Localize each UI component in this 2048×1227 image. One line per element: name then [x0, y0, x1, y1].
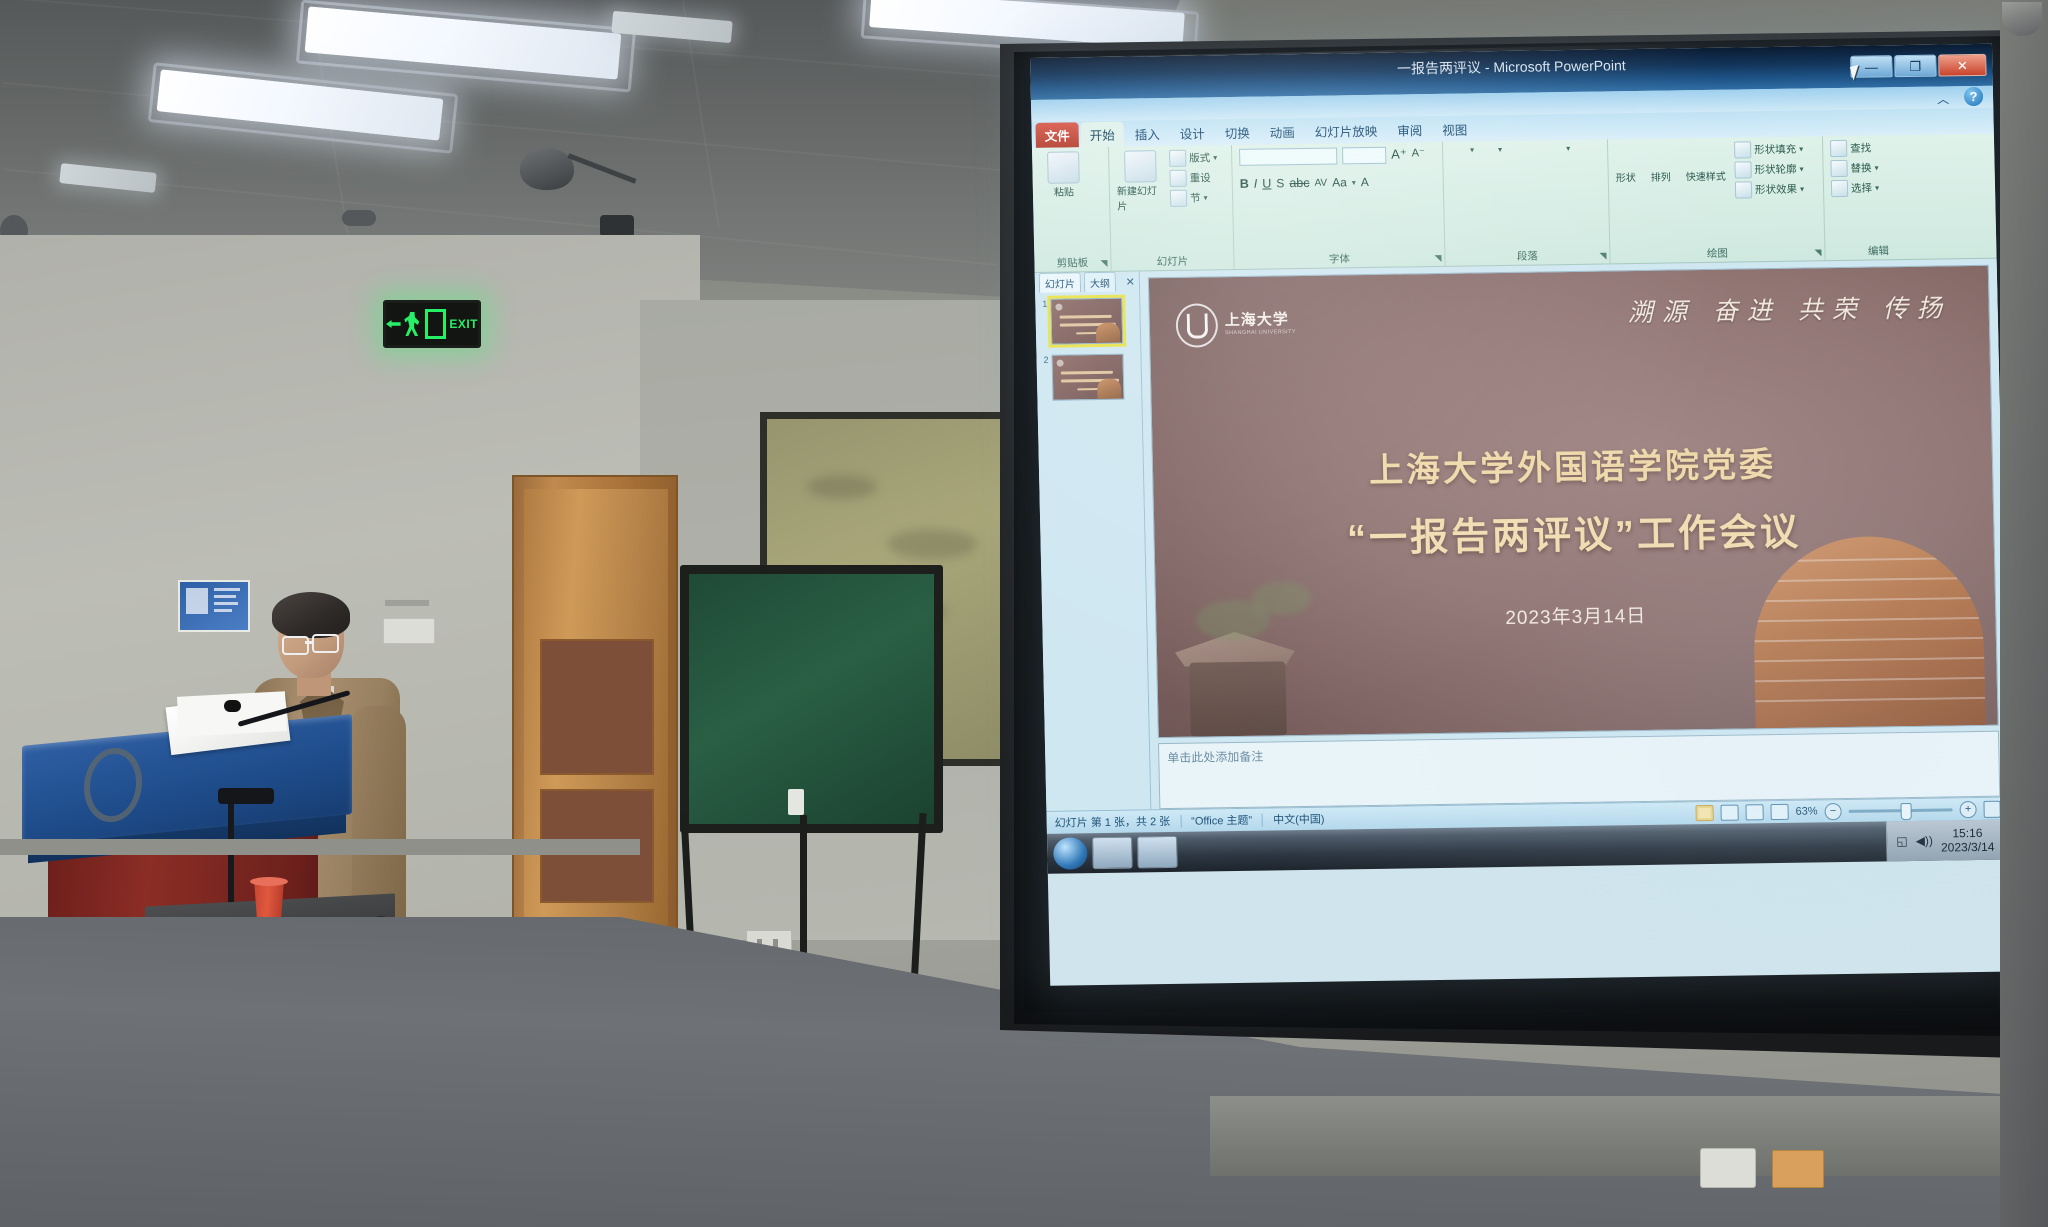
- find-label: 查找: [1850, 141, 1871, 156]
- start-button[interactable]: [1053, 837, 1088, 869]
- group-label-slides: 幻灯片: [1111, 253, 1233, 270]
- drawing-dialog-launcher[interactable]: ◥: [1814, 247, 1821, 258]
- shape-fill-icon: [1734, 141, 1751, 158]
- slide-building-illustration: [1752, 535, 1986, 728]
- view-slide-sorter-button[interactable]: [1720, 805, 1738, 821]
- tab-file[interactable]: 文件: [1035, 122, 1079, 148]
- align-left-icon[interactable]: [1450, 165, 1466, 180]
- volume-icon[interactable]: ◀)): [1916, 834, 1934, 848]
- italic-button[interactable]: I: [1254, 177, 1258, 191]
- microphone-head: [224, 700, 241, 712]
- zoom-in-button[interactable]: +: [1959, 801, 1976, 818]
- powerpoint-window[interactable]: 一报告两评议 - Microsoft PowerPoint — ❐ ✕ ︿ ? …: [1030, 44, 2012, 986]
- chevron-down-icon: ▾: [1213, 153, 1217, 162]
- slide-heading-line-1: 上海大学外国语学院党委: [1152, 434, 1992, 495]
- arrange-icon[interactable]: [1650, 142, 1681, 166]
- system-tray: ◱ ◀)) 15:16 2023/3/14: [1886, 820, 2004, 862]
- shapes-gallery-icon[interactable]: [1615, 143, 1646, 167]
- slide-counter: 幻灯片 第 1 张，共 2 张: [1055, 813, 1171, 831]
- zoom-percent-label: 63%: [1795, 805, 1817, 817]
- select-label: 选择: [1851, 181, 1872, 196]
- window-title-text: 一报告两评议 - Microsoft PowerPoint: [1397, 55, 1626, 78]
- slide-thumbnail-1[interactable]: [1050, 298, 1123, 345]
- zoom-slider[interactable]: [1849, 808, 1953, 813]
- layout-label: 版式: [1189, 150, 1210, 165]
- chevron-down-icon: ▾: [1799, 145, 1803, 154]
- convert-smartart-icon[interactable]: [1451, 184, 1467, 199]
- exit-arrow-icon: [386, 320, 401, 328]
- clock-date: 2023/3/14: [1941, 840, 1995, 855]
- help-icon[interactable]: ?: [1964, 87, 1983, 106]
- running-man-icon: [404, 312, 422, 336]
- wall-right: [2000, 0, 2048, 1227]
- new-slide-icon: [1124, 150, 1157, 182]
- shape-fill-label: 形状填充: [1754, 142, 1796, 158]
- replace-button[interactable]: 替换 ▾: [1830, 159, 1922, 177]
- clipboard-dialog-launcher[interactable]: ◥: [1100, 258, 1107, 269]
- light-switch[interactable]: [383, 618, 435, 644]
- ribbon-group-font: A⁺ A⁻ B I U S abc AV Aa ▾ A 字体 ◥: [1232, 142, 1446, 269]
- wall-below-screen: [1210, 1096, 2048, 1176]
- close-button[interactable]: ✕: [1938, 54, 1986, 77]
- thumbnail-item[interactable]: 2: [1040, 353, 1137, 400]
- language-indicator[interactable]: 中文(中国): [1273, 811, 1325, 828]
- thumbnail-number: 1: [1039, 299, 1047, 309]
- eyeglasses-bridge: [305, 641, 314, 644]
- font-size-combobox[interactable]: [1342, 147, 1386, 165]
- section-label: 节: [1190, 190, 1201, 205]
- increase-font-size-icon[interactable]: A⁺: [1391, 146, 1407, 167]
- section-icon: [1170, 190, 1187, 207]
- person-hair: [272, 592, 350, 638]
- ribbon-group-clipboard: 粘贴 剪贴板 ◥: [1032, 147, 1112, 272]
- tab-slideshow[interactable]: 幻灯片放映: [1305, 118, 1386, 144]
- floor-mic-head: [218, 788, 274, 804]
- university-logo: 上海大学 SHANGHAI UNIVERSITY: [1175, 302, 1296, 348]
- exit-sign-label: EXIT: [449, 317, 478, 331]
- find-button[interactable]: 查找: [1830, 139, 1922, 157]
- eyeglasses-right: [312, 634, 339, 653]
- strikethrough-button[interactable]: abc: [1289, 176, 1309, 190]
- shadow-button[interactable]: S: [1276, 176, 1284, 190]
- shape-outline-label: 形状轮廓: [1754, 162, 1796, 178]
- network-icon[interactable]: ◱: [1896, 834, 1908, 848]
- decrease-font-size-icon[interactable]: A⁻: [1412, 146, 1426, 167]
- shape-fill-button[interactable]: 形状填充 ▾: [1734, 141, 1803, 159]
- wall-socket: [1700, 1148, 1756, 1188]
- character-spacing-button[interactable]: AV: [1314, 177, 1327, 188]
- find-icon: [1830, 140, 1847, 157]
- baseboard: [0, 839, 640, 855]
- theme-name[interactable]: “Office 主题”: [1191, 812, 1252, 829]
- tab-home[interactable]: 开始: [1080, 122, 1124, 148]
- tab-slides[interactable]: 幻灯片: [1039, 272, 1081, 293]
- taskbar-item-explorer[interactable]: [1092, 837, 1133, 870]
- ceiling-sensor: [342, 210, 376, 226]
- wall-socket-orange: [1772, 1150, 1824, 1188]
- replace-label: 替换: [1850, 161, 1871, 176]
- close-pane-icon[interactable]: ✕: [1126, 275, 1136, 288]
- align-text-icon[interactable]: [1570, 163, 1586, 178]
- group-label-paragraph: 段落: [1445, 247, 1609, 264]
- group-label-font: 字体: [1234, 250, 1444, 268]
- reset-label: 重设: [1189, 170, 1210, 185]
- new-slide-label: 新建幻灯片: [1117, 182, 1166, 213]
- new-slide-button[interactable]: 新建幻灯片: [1116, 150, 1165, 213]
- shape-outline-icon: [1734, 161, 1751, 178]
- view-reading-button[interactable]: [1745, 804, 1763, 820]
- slide-thumbnail-2[interactable]: [1051, 354, 1124, 401]
- shape-effects-icon: [1735, 181, 1752, 198]
- ribbon-group-drawing: 形状 排列 快速样式 形状填充 ▾: [1608, 136, 1826, 263]
- slide-thumbnail-pane[interactable]: 幻灯片 大纲 ✕ 1 2: [1035, 271, 1152, 810]
- change-case-button[interactable]: Aa: [1332, 175, 1347, 189]
- line-spacing-icon[interactable]: [1546, 144, 1562, 159]
- section-button[interactable]: 节 ▾: [1170, 189, 1218, 207]
- increase-indent-icon[interactable]: [1526, 144, 1542, 159]
- tab-review[interactable]: 审阅: [1388, 117, 1432, 143]
- ribbon-body: 粘贴 剪贴板 ◥ 新建幻灯片: [1032, 134, 1997, 273]
- arrange-label: 排列: [1651, 168, 1681, 183]
- wall-camera: [600, 215, 634, 237]
- bullets-icon[interactable]: [1450, 146, 1466, 161]
- tab-animations[interactable]: 动画: [1260, 119, 1304, 145]
- paste-icon: [1047, 151, 1080, 183]
- group-label-clipboard: 剪贴板: [1034, 255, 1110, 271]
- ribbon-group-slides: 新建幻灯片 版式 ▾ 重设: [1109, 145, 1235, 271]
- screenshot-root: EXIT: [0, 0, 2048, 1227]
- shape-outline-button[interactable]: 形状轮廓 ▾: [1734, 161, 1803, 179]
- chevron-down-icon: ▾: [1875, 183, 1879, 192]
- workspace: 幻灯片 大纲 ✕ 1 2: [1035, 259, 2009, 811]
- tab-outline[interactable]: 大纲: [1084, 272, 1116, 292]
- tab-design[interactable]: 设计: [1170, 120, 1214, 146]
- exit-sign: EXIT: [383, 300, 481, 348]
- chevron-down-icon: ▾: [1203, 193, 1207, 202]
- text-direction-icon[interactable]: [1550, 163, 1566, 178]
- layout-button[interactable]: 版式 ▾: [1169, 149, 1217, 167]
- slide-edit-area: 上海大学 SHANGHAI UNIVERSITY 溯源 奋进 共荣 传扬: [1140, 259, 2009, 810]
- reset-button[interactable]: 重设: [1169, 169, 1217, 187]
- font-family-combobox[interactable]: [1239, 147, 1337, 165]
- group-label-drawing: 绘图: [1610, 244, 1824, 262]
- chalkboard-eraser: [788, 789, 804, 815]
- bold-button[interactable]: B: [1240, 177, 1249, 191]
- replace-icon: [1830, 160, 1847, 177]
- layout-icon: [1169, 150, 1186, 167]
- quick-styles-label: 快速样式: [1686, 168, 1726, 184]
- tab-insert[interactable]: 插入: [1125, 121, 1169, 147]
- view-normal-button[interactable]: [1695, 805, 1713, 821]
- group-label-editing: 编辑: [1825, 243, 1931, 260]
- taskbar-clock[interactable]: 15:16 2023/3/14: [1941, 825, 1995, 855]
- collapse-ribbon-icon[interactable]: ︿: [1937, 90, 1949, 107]
- tab-transitions[interactable]: 切换: [1215, 120, 1259, 146]
- exit-door-icon: [425, 309, 447, 339]
- wall-poster: [178, 580, 250, 632]
- logo-chinese-name: 上海大学: [1225, 312, 1296, 328]
- chevron-down-icon: ▾: [1800, 185, 1804, 194]
- underline-button[interactable]: U: [1262, 176, 1271, 190]
- select-button[interactable]: 选择 ▾: [1831, 179, 1923, 197]
- view-slideshow-button[interactable]: [1770, 804, 1788, 820]
- paragraph-dialog-launcher[interactable]: ◥: [1599, 250, 1606, 261]
- chalkboard-surface: [680, 565, 943, 833]
- reset-icon: [1169, 170, 1186, 187]
- select-icon: [1831, 180, 1848, 197]
- chevron-down-icon: ▾: [1352, 178, 1356, 187]
- maximize-button[interactable]: ❐: [1894, 55, 1936, 78]
- quick-styles-icon[interactable]: [1685, 142, 1716, 166]
- clock-time: 15:16: [1952, 826, 1982, 841]
- ribbon-group-editing: 查找 替换 ▾ 选择 ▾ 编辑: [1823, 135, 1932, 261]
- tab-view[interactable]: 视图: [1433, 116, 1477, 142]
- thumbnail-item[interactable]: 1: [1039, 297, 1136, 344]
- slide-calligraphy-motto: 溯源 奋进 共荣 传扬: [1627, 288, 1951, 329]
- logo-english-name: SHANGHAI UNIVERSITY: [1225, 330, 1296, 337]
- font-color-button[interactable]: A: [1361, 175, 1369, 189]
- fit-slide-to-window-button[interactable]: [1983, 800, 2000, 817]
- logo-mark-icon: [1175, 303, 1218, 348]
- taskbar-item-browser[interactable]: [1137, 836, 1178, 869]
- zoom-out-button[interactable]: −: [1824, 803, 1841, 820]
- align-right-icon[interactable]: [1490, 164, 1506, 179]
- eyeglasses-left: [282, 636, 309, 655]
- slide-pane-tabs: 幻灯片 大纲 ✕: [1039, 271, 1135, 292]
- chevron-down-icon: ▾: [1875, 163, 1879, 172]
- paste-label: 粘贴: [1054, 183, 1074, 198]
- chevron-down-icon: ▾: [1800, 165, 1804, 174]
- decrease-indent-icon[interactable]: [1506, 145, 1522, 160]
- justify-icon[interactable]: [1510, 164, 1526, 179]
- wall-trim: [385, 600, 429, 606]
- columns-icon[interactable]: [1530, 163, 1546, 178]
- current-slide[interactable]: 上海大学 SHANGHAI UNIVERSITY 溯源 奋进 共荣 传扬: [1148, 265, 1999, 738]
- shape-effects-label: 形状效果: [1755, 182, 1797, 198]
- notes-pane[interactable]: 单击此处添加备注: [1158, 731, 2000, 809]
- shapes-label: 形状: [1616, 169, 1646, 184]
- thumbnail-number: 2: [1040, 355, 1048, 365]
- ceiling-dome-camera: [520, 148, 574, 190]
- corner-security-camera: [2002, 2, 2042, 36]
- paper-cup-rim: [250, 877, 288, 886]
- align-center-icon[interactable]: [1470, 164, 1486, 179]
- numbering-icon[interactable]: [1478, 145, 1494, 160]
- font-dialog-launcher[interactable]: ◥: [1434, 253, 1441, 264]
- ribbon-group-paragraph: ▾ ▾ ▾ 段落: [1443, 139, 1611, 265]
- shape-effects-button[interactable]: 形状效果 ▾: [1735, 181, 1804, 199]
- paste-button[interactable]: 粘贴: [1039, 151, 1088, 199]
